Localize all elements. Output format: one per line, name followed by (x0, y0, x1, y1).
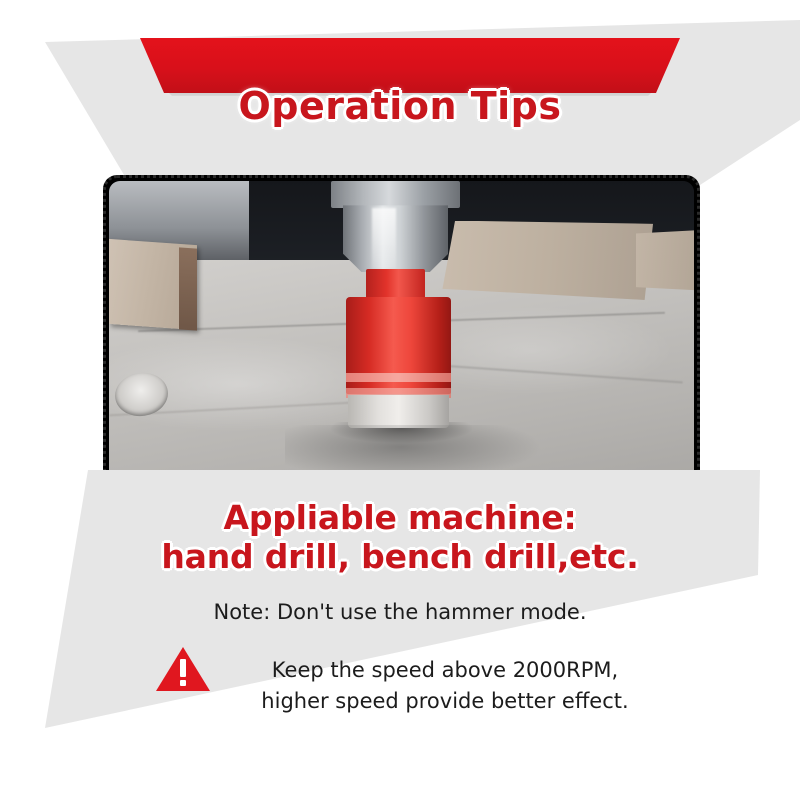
photo-bit-band (346, 373, 451, 382)
speed-warning-text: Keep the speed above 2000RPM, higher spe… (210, 655, 680, 717)
demo-photo-frame (103, 175, 700, 492)
photo-wood-board-left-edge (179, 247, 197, 331)
photo-bit-diamond-tip (348, 395, 450, 429)
hammer-mode-note: Note: Don't use the hammer mode. (0, 600, 800, 624)
photo-drill-spindle (331, 181, 460, 208)
speed-warning-line-2: higher speed provide better effect. (210, 686, 680, 717)
warning-triangle-icon (155, 645, 211, 693)
photo-drill-chuck (343, 205, 448, 272)
headline-line-2: hand drill, bench drill,etc. (0, 537, 800, 576)
demo-photo (109, 181, 694, 486)
photo-wood-board-right-far (636, 230, 695, 291)
applicable-machine-headline: Appliable machine: hand drill, bench dri… (0, 498, 800, 576)
headline-line-1: Appliable machine: (0, 498, 800, 537)
photo-wood-board-right (442, 221, 653, 300)
page-title: Operation Tips (0, 84, 800, 128)
speed-warning-line-1: Keep the speed above 2000RPM, (210, 655, 680, 686)
photo-chuck-highlight (372, 208, 395, 269)
product-info-card: Operation Tips (0, 0, 800, 800)
